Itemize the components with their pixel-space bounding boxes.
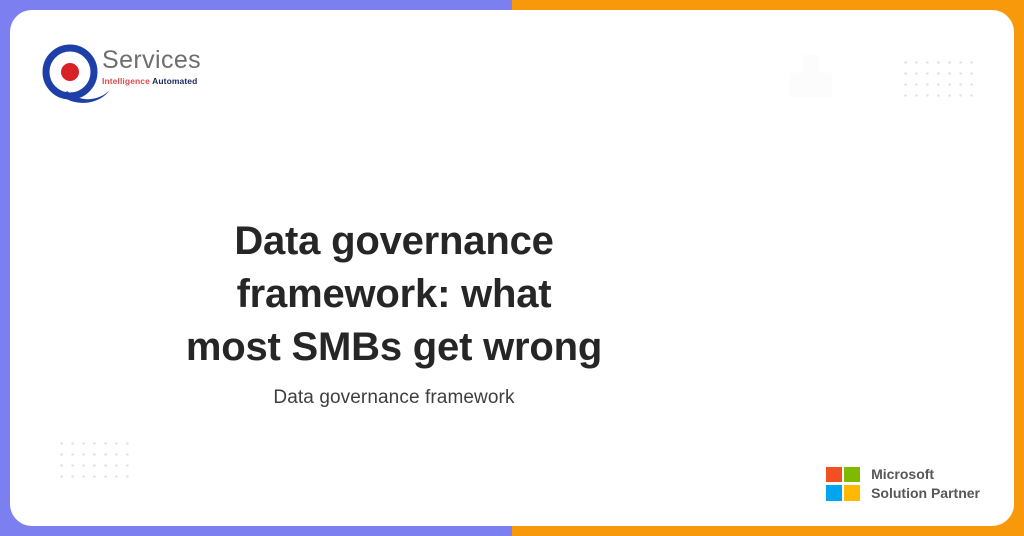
- logo-brand-text: Services: [102, 48, 242, 73]
- logo-tagline-primary: Intelligence: [102, 76, 150, 86]
- square-yellow: [844, 485, 860, 501]
- headline-line-2: framework: what: [237, 272, 552, 316]
- square-blue: [826, 485, 842, 501]
- headline-line-3: most SMBs get wrong: [186, 325, 602, 369]
- square-green: [844, 467, 860, 483]
- faint-watermark-icon: [790, 55, 832, 97]
- logo-tagline-secondary: Automated: [152, 76, 197, 86]
- logo-wordmark: Services Intelligence Automated: [102, 48, 242, 86]
- partner-badge-line-2: Solution Partner: [871, 485, 980, 501]
- page-subtitle: Data governance framework: [10, 387, 778, 409]
- microsoft-logo-icon: [826, 467, 860, 501]
- page-title: Data governance framework: what most SMB…: [10, 215, 778, 373]
- logo-tagline: Intelligence Automated: [102, 76, 242, 86]
- square-red: [826, 467, 842, 483]
- content-card: Services Intelligence Automated Data gov…: [10, 10, 1014, 526]
- microsoft-solution-partner-badge: Microsoft Solution Partner: [826, 465, 980, 502]
- dot-grid-bottom-left: [54, 436, 132, 484]
- dot-grid-top-right: [898, 55, 976, 103]
- headline-line-1: Data governance: [234, 219, 553, 263]
- partner-badge-text: Microsoft Solution Partner: [871, 465, 980, 502]
- brand-logo: Services Intelligence Automated: [40, 42, 240, 112]
- headline-block: Data governance framework: what most SMB…: [10, 215, 778, 409]
- partner-badge-line-1: Microsoft: [871, 466, 934, 482]
- slide-canvas: Services Intelligence Automated Data gov…: [0, 0, 1024, 536]
